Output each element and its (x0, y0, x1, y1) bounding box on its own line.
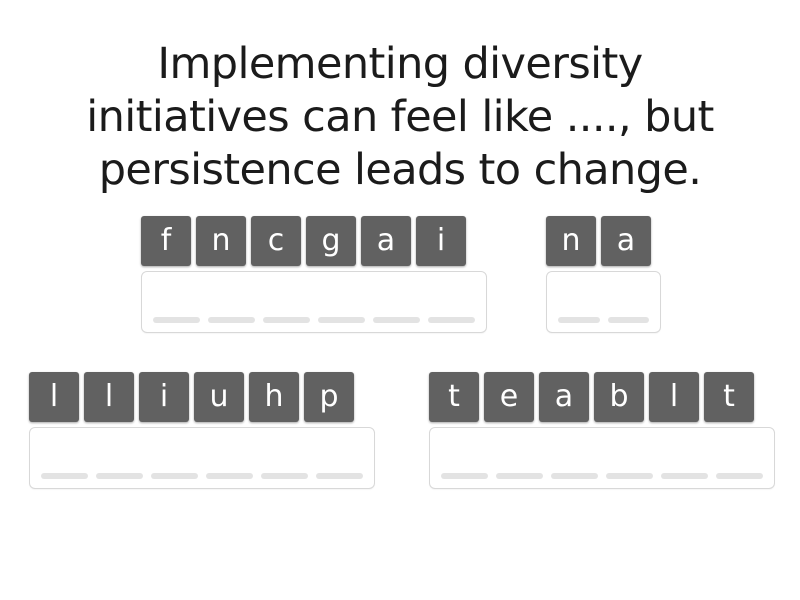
answer-slot[interactable] (606, 473, 653, 479)
answer-slot[interactable] (261, 473, 308, 479)
answer-slot[interactable] (206, 473, 253, 479)
letter-tile[interactable]: a (361, 216, 411, 266)
letter-tile[interactable]: n (546, 216, 596, 266)
letter-tile[interactable]: g (306, 216, 356, 266)
letter-tile[interactable]: t (429, 372, 479, 422)
anagram-group-1: f n c g a i (141, 216, 487, 333)
question-prompt: Implementing diversity initiatives can f… (50, 38, 750, 197)
answer-slot[interactable] (41, 473, 88, 479)
answer-slot[interactable] (716, 473, 763, 479)
answer-slot[interactable] (496, 473, 543, 479)
tile-row-4: t e a b l t (429, 372, 775, 422)
letter-tile[interactable]: c (251, 216, 301, 266)
answer-slot[interactable] (428, 317, 475, 323)
letter-tile[interactable]: u (194, 372, 244, 422)
answer-slot[interactable] (441, 473, 488, 479)
answer-slot[interactable] (263, 317, 310, 323)
letter-tile[interactable]: p (304, 372, 354, 422)
answer-box-4[interactable] (429, 427, 775, 489)
answer-box-1[interactable] (141, 271, 487, 333)
letter-tile[interactable]: h (249, 372, 299, 422)
letter-tile[interactable]: a (539, 372, 589, 422)
answer-box-3[interactable] (29, 427, 375, 489)
answer-slot[interactable] (153, 317, 200, 323)
anagram-group-2: n a (546, 216, 661, 333)
answer-slot[interactable] (151, 473, 198, 479)
answer-slot[interactable] (318, 317, 365, 323)
tile-row-2: n a (546, 216, 661, 266)
letter-tile[interactable]: b (594, 372, 644, 422)
letter-tile[interactable]: i (139, 372, 189, 422)
letter-tile[interactable]: l (84, 372, 134, 422)
letter-tile[interactable]: l (29, 372, 79, 422)
tile-row-1: f n c g a i (141, 216, 487, 266)
letter-tile[interactable]: l (649, 372, 699, 422)
answer-slot[interactable] (661, 473, 708, 479)
activity-stage: Implementing diversity initiatives can f… (0, 0, 800, 600)
answer-slot[interactable] (96, 473, 143, 479)
letter-tile[interactable]: f (141, 216, 191, 266)
anagram-group-4: t e a b l t (429, 372, 775, 489)
answer-slot[interactable] (551, 473, 598, 479)
anagram-group-3: l l i u h p (29, 372, 375, 489)
letter-tile[interactable]: a (601, 216, 651, 266)
answer-slot[interactable] (373, 317, 420, 323)
answer-slot[interactable] (316, 473, 363, 479)
answer-slot[interactable] (208, 317, 255, 323)
letter-tile[interactable]: e (484, 372, 534, 422)
answer-slot[interactable] (558, 317, 600, 323)
tile-row-3: l l i u h p (29, 372, 375, 422)
answer-box-2[interactable] (546, 271, 661, 333)
letter-tile[interactable]: t (704, 372, 754, 422)
letter-tile[interactable]: n (196, 216, 246, 266)
letter-tile[interactable]: i (416, 216, 466, 266)
answer-slot[interactable] (608, 317, 650, 323)
